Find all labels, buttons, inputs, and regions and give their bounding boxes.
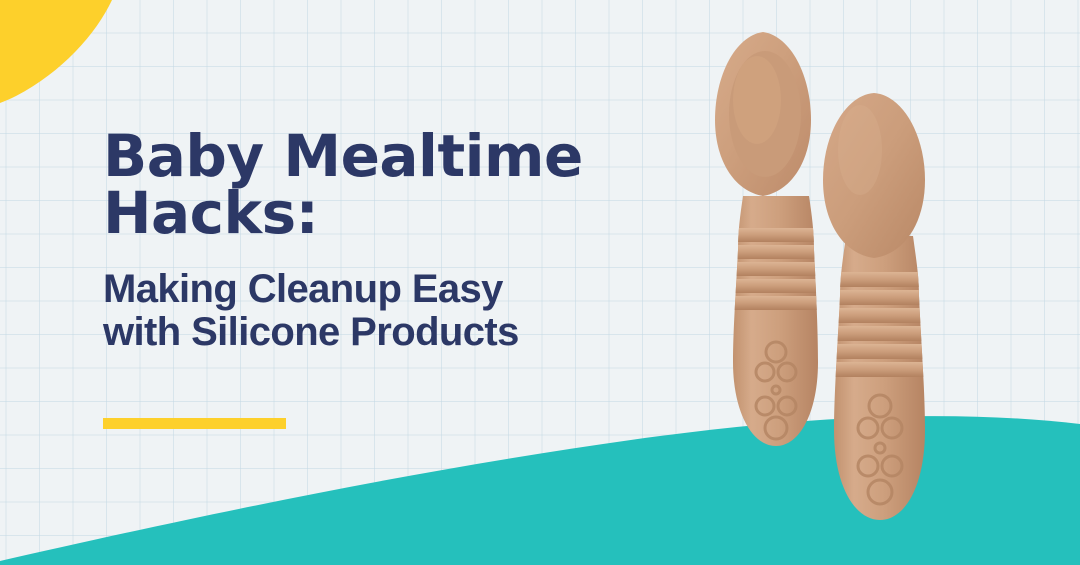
- handle-emboss-right: [858, 395, 902, 504]
- yellow-underline-accent: [103, 418, 286, 429]
- yellow-corner-blob: [0, 0, 112, 103]
- handle-ridges-left: [726, 228, 826, 310]
- subheadline-line-1: Making Cleanup Easy: [103, 268, 643, 311]
- copy-block: Baby Mealtime Hacks: Making Cleanup Easy…: [103, 128, 643, 354]
- promo-banner: Baby Mealtime Hacks: Making Cleanup Easy…: [0, 0, 1080, 565]
- headline-line-2: Hacks:: [103, 185, 643, 242]
- subheadline: Making Cleanup Easy with Silicone Produc…: [103, 268, 643, 354]
- headline: Baby Mealtime Hacks:: [103, 128, 643, 242]
- headline-line-1: Baby Mealtime: [103, 128, 643, 185]
- spoon-front-left: [715, 32, 826, 446]
- spoon-back-right: [823, 93, 936, 520]
- handle-ridges-right: [826, 272, 936, 377]
- teal-bottom-wave: [0, 416, 1080, 565]
- handle-emboss-left: [756, 342, 796, 439]
- subheadline-line-2: with Silicone Products: [103, 311, 643, 354]
